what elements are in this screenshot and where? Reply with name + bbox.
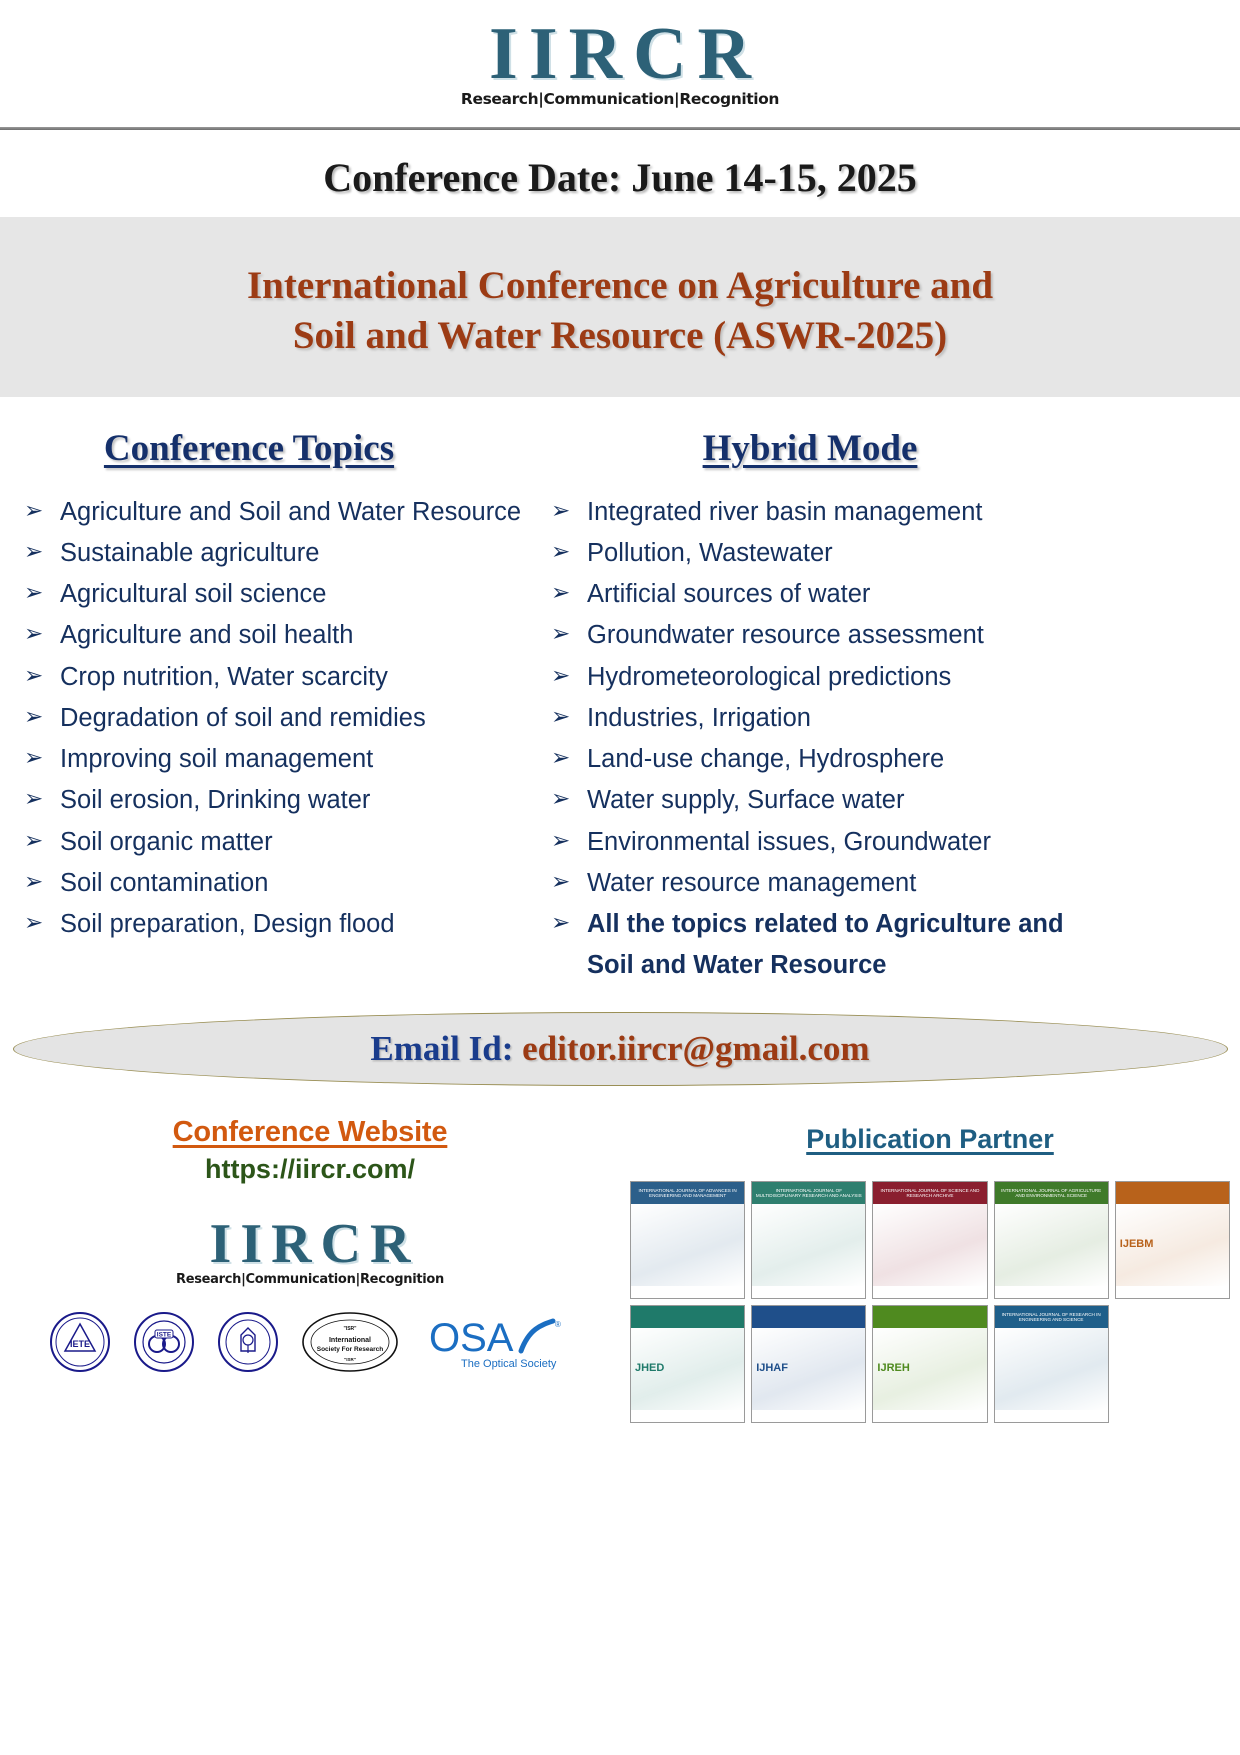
list-item: ➢Sustainable agriculture — [18, 533, 545, 573]
list-item-label: Soil contamination — [60, 863, 530, 903]
journal-cover: IJHAF — [751, 1305, 866, 1423]
list-item-label: Crop nutrition, Water scarcity — [60, 657, 530, 697]
list-item-label: Pollution, Wastewater — [587, 533, 1117, 573]
iircr-logo-text: IIRCR — [461, 16, 779, 94]
arrow-bullet-icon: ➢ — [18, 698, 60, 735]
email-oval: Email Id: editor.iircr@gmail.com — [13, 1012, 1228, 1086]
journal-cover-header — [873, 1306, 986, 1328]
list-item-label: Water resource management — [587, 863, 1117, 903]
journal-abbreviation: JHED — [635, 1362, 664, 1374]
list-item: ➢Agricultural soil science — [18, 574, 545, 614]
list-item: ➢Soil preparation, Design flood — [18, 904, 545, 944]
list-item: ➢Soil organic matter — [18, 822, 545, 862]
arrow-bullet-icon: ➢ — [18, 657, 60, 694]
arrow-bullet-icon: ➢ — [545, 698, 587, 735]
conference-topics-column: Conference Topics ➢Agriculture and Soil … — [0, 427, 545, 986]
journal-cover-art: JHED — [631, 1328, 744, 1410]
list-item-label: Land-use change, Hydrosphere — [587, 739, 1117, 779]
list-item: ➢Industries, Irrigation — [545, 698, 1240, 738]
svg-text:Society For Research: Society For Research — [317, 1346, 384, 1353]
email-label: Email Id: — [370, 1029, 513, 1068]
list-item-label: Soil preparation, Design flood — [60, 904, 530, 944]
journal-cover: INTERNATIONAL JOURNAL OF RESEARCH IN ENG… — [994, 1305, 1109, 1423]
journal-cover-art — [995, 1204, 1108, 1286]
list-item: ➢Degradation of soil and remidies — [18, 698, 545, 738]
list-item: ➢Artificial sources of water — [545, 574, 1240, 614]
conference-title-band: International Conference on Agriculture … — [0, 217, 1240, 397]
arrow-bullet-icon: ➢ — [18, 492, 60, 529]
journal-cover-footer — [631, 1286, 744, 1298]
conference-topics-list: ➢Agriculture and Soil and Water Resource… — [18, 492, 545, 945]
journal-cover-art — [873, 1204, 986, 1286]
arrow-bullet-icon: ➢ — [545, 780, 587, 817]
svg-text:OSA: OSA — [429, 1316, 514, 1360]
journal-cover-footer — [752, 1410, 865, 1422]
publication-partner-heading: Publication Partner — [620, 1124, 1240, 1155]
journal-cover-header: INTERNATIONAL JOURNAL OF ADVANCES IN ENG… — [631, 1182, 744, 1204]
list-item: ➢Pollution, Wastewater — [545, 533, 1240, 573]
email-zone: Email Id: editor.iircr@gmail.com — [0, 1012, 1240, 1086]
journal-abbreviation: IJHAF — [756, 1362, 788, 1374]
arrow-bullet-icon: ➢ — [18, 574, 60, 611]
arrow-bullet-icon: ➢ — [545, 863, 587, 900]
arrow-bullet-icon: ➢ — [18, 904, 60, 941]
svg-text:IETE: IETE — [70, 1339, 90, 1349]
hybrid-mode-column: Hybrid Mode ➢Integrated river basin mana… — [545, 427, 1240, 986]
list-item: ➢Hydrometeorological predictions — [545, 657, 1240, 697]
journal-cover-footer — [873, 1286, 986, 1298]
journal-cover: INTERNATIONAL JOURNAL OF AGRICULTURE AND… — [994, 1181, 1109, 1299]
journal-cover-header: INTERNATIONAL JOURNAL OF MULTIDISCIPLINA… — [752, 1182, 865, 1204]
journal-cover-header: INTERNATIONAL JOURNAL OF AGRICULTURE AND… — [995, 1182, 1108, 1204]
list-item-label: Agriculture and Soil and Water Resource — [60, 492, 530, 532]
international-society-for-research-logo-icon: "ISR" International Society For Research… — [301, 1311, 399, 1373]
list-item: ➢Integrated river basin management — [545, 492, 1240, 532]
journal-cover-header — [1116, 1182, 1229, 1204]
footer-right: Publication Partner INTERNATIONAL JOURNA… — [620, 1116, 1240, 1423]
journal-cover-art: IJEBM — [1116, 1204, 1229, 1286]
list-item-label: Sustainable agriculture — [60, 533, 530, 573]
journal-abbreviation: IJEBM — [1120, 1238, 1154, 1250]
topics-columns: Conference Topics ➢Agriculture and Soil … — [0, 397, 1240, 986]
list-item-label: All the topics related to Agriculture an… — [587, 904, 1117, 985]
svg-text:ISTE: ISTE — [157, 1331, 172, 1338]
list-item-label: Agricultural soil science — [60, 574, 530, 614]
conference-topics-heading: Conference Topics — [18, 427, 545, 470]
arrow-bullet-icon: ➢ — [545, 615, 587, 652]
list-item-label: Artificial sources of water — [587, 574, 1117, 614]
iircr-logo: IIRCR Research|Communication|Recognition — [461, 16, 779, 108]
osa-logo-icon: OSA ® The Optical Society — [421, 1311, 571, 1373]
journal-cover-header — [752, 1306, 865, 1328]
journal-cover-header: INTERNATIONAL JOURNAL OF RESEARCH IN ENG… — [995, 1306, 1108, 1328]
journal-cover-art: IJHAF — [752, 1328, 865, 1410]
journal-cover-art — [995, 1328, 1108, 1410]
journal-cover-art — [631, 1204, 744, 1286]
conference-website-heading: Conference Website — [0, 1116, 620, 1149]
journal-cover-footer — [631, 1410, 744, 1422]
arrow-bullet-icon: ➢ — [545, 492, 587, 529]
arrow-bullet-icon: ➢ — [18, 822, 60, 859]
journal-cover: INTERNATIONAL JOURNAL OF MULTIDISCIPLINA… — [751, 1181, 866, 1299]
list-item: ➢Improving soil management — [18, 739, 545, 779]
arrow-bullet-icon: ➢ — [545, 822, 587, 859]
journal-cover: IJEBM — [1115, 1181, 1230, 1299]
arrow-bullet-icon: ➢ — [545, 739, 587, 776]
arrow-bullet-icon: ➢ — [18, 615, 60, 652]
list-item: ➢Agriculture and Soil and Water Resource — [18, 492, 545, 532]
list-item: ➢Water resource management — [545, 863, 1240, 903]
list-item-label: Groundwater resource assessment — [587, 615, 1117, 655]
hybrid-mode-heading: Hybrid Mode — [545, 427, 1240, 470]
list-item-label: Soil organic matter — [60, 822, 530, 862]
list-item-label: Degradation of soil and remidies — [60, 698, 530, 738]
list-item-label: Water supply, Surface water — [587, 780, 1117, 820]
journal-cover-art — [752, 1204, 865, 1286]
journal-cover-header: INTERNATIONAL JOURNAL OF SCIENCE AND RES… — [873, 1182, 986, 1204]
iete-logo-icon: IETE — [49, 1311, 111, 1373]
list-item: ➢Water supply, Surface water — [545, 780, 1240, 820]
svg-text:"ISR": "ISR" — [343, 1326, 357, 1332]
conference-title-line-1: International Conference on Agriculture … — [20, 261, 1220, 311]
list-item-label: Soil erosion, Drinking water — [60, 780, 530, 820]
hybrid-mode-list: ➢Integrated river basin management➢Pollu… — [545, 492, 1240, 985]
journal-abbreviation: IJREH — [877, 1362, 909, 1374]
arrow-bullet-icon: ➢ — [545, 533, 587, 570]
list-item-label: Hydrometeorological predictions — [587, 657, 1117, 697]
journal-cover-footer — [873, 1410, 986, 1422]
email-address[interactable]: editor.iircr@gmail.com — [522, 1029, 869, 1068]
journal-cover: IJREH — [872, 1305, 987, 1423]
iircr-logo-tagline: Research|Communication|Recognition — [461, 90, 779, 108]
footer-left: Conference Website https://iircr.com/ II… — [0, 1116, 620, 1423]
list-item: ➢Environmental issues, Groundwater — [545, 822, 1240, 862]
email-text: Email Id: editor.iircr@gmail.com — [370, 1029, 869, 1069]
svg-text:The Optical Society: The Optical Society — [461, 1358, 557, 1370]
iircr-footer-logo-text: IIRCR — [0, 1215, 620, 1274]
list-item: ➢Land-use change, Hydrosphere — [545, 739, 1240, 779]
svg-text:®: ® — [555, 1320, 561, 1329]
list-item: ➢Groundwater resource assessment — [545, 615, 1240, 655]
conference-website-url[interactable]: https://iircr.com/ — [0, 1154, 620, 1185]
journal-covers-grid: INTERNATIONAL JOURNAL OF ADVANCES IN ENG… — [620, 1181, 1240, 1423]
journal-cover-footer — [995, 1410, 1108, 1422]
conference-date: Conference Date: June 14-15, 2025 — [0, 130, 1240, 217]
list-item-label: Environmental issues, Groundwater — [587, 822, 1117, 862]
arrow-bullet-icon: ➢ — [18, 533, 60, 570]
list-item: ➢Soil erosion, Drinking water — [18, 780, 545, 820]
arrow-bullet-icon: ➢ — [545, 657, 587, 694]
journal-cover: JHED — [630, 1305, 745, 1423]
iste-logo-icon: ISTE — [133, 1311, 195, 1373]
institution-of-engineers-logo-icon — [217, 1311, 279, 1373]
list-item-label: Agriculture and soil health — [60, 615, 530, 655]
journal-cover-footer — [995, 1286, 1108, 1298]
list-item-label: Improving soil management — [60, 739, 530, 779]
svg-text:"ISR": "ISR" — [344, 1357, 356, 1362]
list-item: ➢Crop nutrition, Water scarcity — [18, 657, 545, 697]
iircr-footer-logo: IIRCR Research|Communication|Recognition — [0, 1215, 620, 1287]
journal-cover: INTERNATIONAL JOURNAL OF ADVANCES IN ENG… — [630, 1181, 745, 1299]
iircr-footer-logo-tagline: Research|Communication|Recognition — [0, 1272, 620, 1287]
poster-footer: Conference Website https://iircr.com/ II… — [0, 1116, 1240, 1423]
list-item: ➢Soil contamination — [18, 863, 545, 903]
arrow-bullet-icon: ➢ — [18, 780, 60, 817]
list-item-label: Industries, Irrigation — [587, 698, 1117, 738]
poster-header: IIRCR Research|Communication|Recognition — [0, 0, 1240, 109]
arrow-bullet-icon: ➢ — [18, 739, 60, 776]
journal-cover-header — [631, 1306, 744, 1328]
list-item: ➢Agriculture and soil health — [18, 615, 545, 655]
arrow-bullet-icon: ➢ — [545, 904, 587, 941]
journal-cover-footer — [1116, 1286, 1229, 1298]
svg-text:International: International — [329, 1337, 371, 1344]
list-item-label: Integrated river basin management — [587, 492, 1117, 532]
arrow-bullet-icon: ➢ — [18, 863, 60, 900]
journal-cover-art: IJREH — [873, 1328, 986, 1410]
journal-cover: INTERNATIONAL JOURNAL OF SCIENCE AND RES… — [872, 1181, 987, 1299]
journal-cover-footer — [752, 1286, 865, 1298]
arrow-bullet-icon: ➢ — [545, 574, 587, 611]
society-logos: IETE ISTE — [0, 1311, 620, 1373]
conference-title-line-2: Soil and Water Resource (ASWR-2025) — [20, 311, 1220, 361]
list-item: ➢All the topics related to Agriculture a… — [545, 904, 1240, 985]
